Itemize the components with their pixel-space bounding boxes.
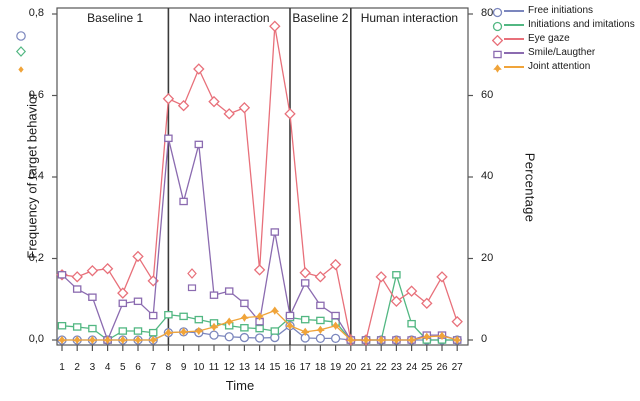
- data-point-marker: [317, 326, 324, 333]
- data-point-marker: [392, 296, 402, 306]
- legend-label: Joint attention: [528, 61, 590, 72]
- data-point-marker: [88, 266, 98, 276]
- data-point-marker: [452, 317, 462, 327]
- series-eye-gaze: [57, 21, 462, 344]
- legend-line: [504, 10, 524, 12]
- series-initiations-and-imitations: [58, 272, 460, 343]
- star-marker-icon: [492, 61, 503, 72]
- square-marker-icon: [492, 47, 503, 58]
- data-point-marker: [226, 288, 233, 294]
- data-point-marker: [255, 265, 265, 275]
- data-point-marker: [103, 264, 113, 274]
- chart-figure: Frequency of target behavior Percentage …: [0, 0, 640, 401]
- stray-symbols-axis-title: [186, 263, 198, 295]
- data-point-marker: [256, 334, 264, 342]
- data-point-marker: [195, 317, 202, 323]
- data-point-marker: [225, 333, 233, 341]
- series-line: [62, 138, 457, 340]
- legend-line: [504, 66, 524, 68]
- data-point-marker: [241, 314, 248, 321]
- data-point-marker: [332, 312, 339, 318]
- data-point-marker: [317, 302, 324, 308]
- data-point-marker: [89, 294, 96, 300]
- data-point-marker: [179, 101, 189, 111]
- series-smile-laugther: [58, 135, 460, 343]
- data-point-marker: [58, 272, 65, 278]
- data-point-marker: [210, 331, 218, 339]
- legend-item[interactable]: Joint attention: [492, 60, 640, 73]
- data-point-marker: [180, 313, 187, 319]
- data-point-marker: [58, 323, 65, 329]
- data-point-marker: [180, 198, 187, 204]
- stray-symbols-left: [14, 30, 28, 80]
- legend-line: [504, 24, 524, 26]
- data-point-marker: [194, 64, 204, 74]
- circle-marker-icon: [492, 19, 503, 30]
- legend-line: [504, 38, 524, 40]
- chart-legend: Free initiationsInitiations and imitatio…: [492, 4, 640, 74]
- legend-label: Eye gaze: [528, 33, 570, 44]
- data-point-marker: [134, 328, 141, 334]
- data-point-marker: [150, 330, 157, 336]
- data-point-marker: [241, 300, 248, 306]
- data-point-marker: [494, 9, 502, 17]
- legend-label: Smile/Laugther: [528, 47, 595, 58]
- data-point-marker: [210, 292, 217, 298]
- legend-item[interactable]: Eye gaze: [492, 32, 640, 45]
- legend-label: Free initiations: [528, 5, 593, 16]
- data-point-marker: [165, 312, 172, 318]
- data-point-marker: [317, 317, 324, 323]
- data-point-marker: [408, 321, 415, 327]
- data-point-marker: [376, 272, 386, 282]
- data-point-marker: [119, 328, 126, 334]
- data-point-marker: [286, 312, 293, 318]
- data-point-marker: [164, 94, 174, 104]
- data-point-marker: [271, 328, 278, 334]
- data-point-marker: [240, 103, 250, 113]
- circle-marker-icon: [492, 5, 503, 16]
- data-point-marker: [271, 229, 278, 235]
- data-point-marker: [493, 36, 503, 46]
- data-point-marker: [165, 135, 172, 141]
- data-point-marker: [302, 317, 309, 323]
- data-point-marker: [300, 268, 310, 278]
- data-point-marker: [256, 325, 263, 331]
- data-point-marker: [74, 286, 81, 292]
- data-point-marker: [241, 325, 248, 331]
- data-point-marker: [89, 325, 96, 331]
- data-point-marker: [270, 21, 280, 31]
- legend-item[interactable]: Free initiations: [492, 4, 640, 17]
- data-point-marker: [195, 141, 202, 147]
- data-point-marker: [494, 65, 501, 72]
- data-point-marker: [494, 23, 502, 31]
- data-point-marker: [133, 252, 143, 262]
- data-point-marker: [118, 288, 128, 298]
- legend-label: Initiations and imitations: [528, 19, 635, 30]
- data-point-marker: [72, 272, 82, 282]
- data-point-marker: [119, 300, 126, 306]
- data-point-marker: [134, 298, 141, 304]
- data-point-marker: [302, 280, 309, 286]
- data-point-marker: [332, 334, 340, 342]
- diamond-marker-icon: [492, 33, 503, 44]
- data-point-marker: [240, 334, 248, 342]
- data-point-marker: [316, 334, 324, 342]
- data-point-marker: [494, 51, 501, 57]
- data-point-marker: [150, 312, 157, 318]
- data-point-marker: [285, 109, 295, 119]
- data-point-marker: [393, 272, 400, 278]
- legend-line: [504, 52, 524, 54]
- legend-item[interactable]: Smile/Laugther: [492, 46, 640, 59]
- data-point-marker: [74, 324, 81, 330]
- data-point-marker: [437, 272, 447, 282]
- legend-item[interactable]: Initiations and imitations: [492, 18, 640, 31]
